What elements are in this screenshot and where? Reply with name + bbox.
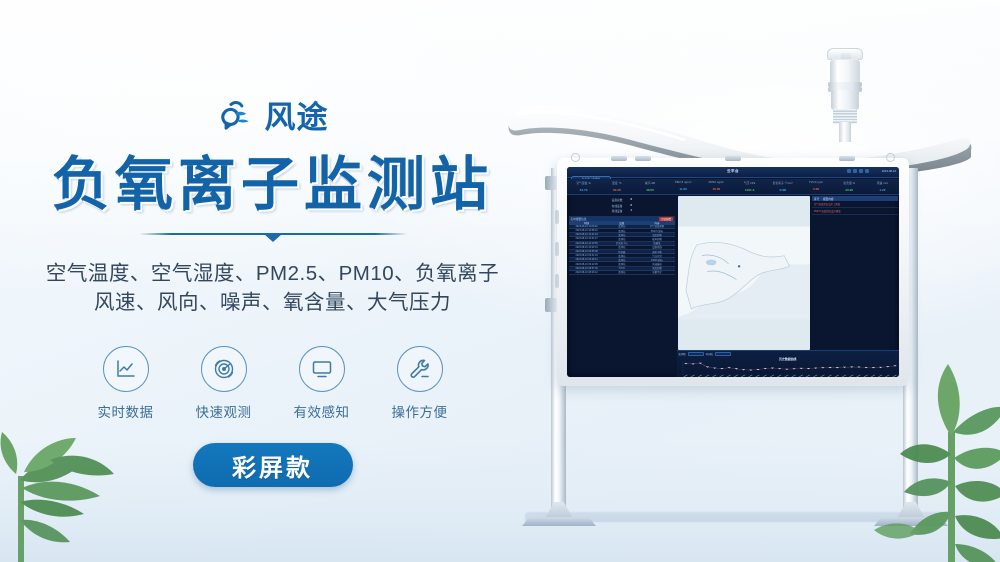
device-stats: 设备总数3在线设备2离线设备1 bbox=[569, 198, 675, 213]
chart-x-tick bbox=[784, 375, 788, 377]
metric-cell: PM10 ug/m³16.00 bbox=[700, 179, 733, 194]
chart-x-tick bbox=[734, 375, 738, 377]
table-cell: 2023-08-16 09:55:08 bbox=[569, 250, 604, 253]
metric-cell: PM2.5 ug/m³11.00 bbox=[667, 179, 700, 194]
chart-time-select[interactable] bbox=[715, 352, 731, 356]
feature-list: 实时数据 快速观测 有效感知 bbox=[95, 346, 451, 421]
chart-x-tick bbox=[806, 375, 810, 377]
toolbar-icon[interactable] bbox=[853, 169, 857, 173]
chart-x-tick bbox=[827, 375, 831, 377]
chart-x-tick bbox=[791, 375, 795, 377]
metric-label: 空气湿度 % bbox=[567, 181, 600, 185]
frame-hook-icon bbox=[886, 153, 895, 162]
metric-value: 0.09 bbox=[799, 187, 832, 191]
dashboard-body: 设备总数3在线设备2离线设备1 实时报警信息 历史报警 时间设备内容 2023-… bbox=[567, 195, 899, 351]
chart-x-tick bbox=[741, 375, 745, 377]
left-panel: 设备总数3在线设备2离线设备1 实时报警信息 历史报警 时间设备内容 2023-… bbox=[567, 195, 677, 351]
divider-triangle-icon bbox=[264, 234, 282, 242]
metric-label: PM2.5 ug/m³ bbox=[667, 181, 700, 184]
marketing-panel: 风途 负氧离子监测站 空气温度、空气湿度、PM2.5、PM10、负氧离子 风速、… bbox=[0, 0, 545, 562]
chart-x-tick bbox=[763, 375, 767, 377]
line-chart-icon bbox=[103, 346, 149, 392]
chart-time-label: 时间段 bbox=[706, 352, 713, 356]
chart-x-tick bbox=[863, 375, 867, 377]
chart-x-tick bbox=[835, 375, 839, 377]
chart-metric-select[interactable] bbox=[688, 352, 704, 356]
stat-value: 3 bbox=[630, 198, 632, 202]
monitoring-station-kiosk: 云平台 负氧离子监测站 2023-08-16 空气湿度 %61.70温度 ℃30… bbox=[505, 40, 975, 530]
chart-x-tick bbox=[719, 375, 723, 377]
mount-bracket bbox=[545, 298, 557, 312]
kiosk-foot-right bbox=[874, 502, 948, 526]
chart-x-tick bbox=[820, 375, 824, 377]
chart-x-tick bbox=[842, 375, 846, 377]
frame-notch bbox=[555, 242, 559, 256]
metric-cell: 负氧离子 个/cm³2185 bbox=[766, 179, 799, 194]
mount-bracket bbox=[545, 176, 557, 190]
device-stat-row: 离线设备1 bbox=[569, 209, 675, 213]
metric-value: 2185 bbox=[766, 188, 799, 192]
foot-plate bbox=[522, 517, 596, 526]
chart-x-tick bbox=[871, 375, 875, 377]
metric-value: 61.70 bbox=[567, 188, 600, 192]
feature-label: 有效感知 bbox=[294, 401, 350, 421]
monitor-screen-icon bbox=[299, 346, 345, 392]
metric-cell: 风速 m/s1.20 bbox=[866, 179, 899, 194]
toolbar-icon[interactable] bbox=[847, 169, 851, 173]
china-map[interactable] bbox=[678, 196, 811, 350]
chart-x-tick bbox=[813, 375, 817, 377]
stat-label: 在线设备 bbox=[612, 204, 623, 208]
subtitle-block: 空气温度、空气湿度、PM2.5、PM10、负氧离子 风速、风向、噪声、氧含量、大… bbox=[46, 259, 499, 318]
metric-label: 气压 hPa bbox=[733, 181, 766, 185]
frame-clip bbox=[725, 156, 741, 161]
history-line-chart bbox=[677, 361, 899, 377]
brand-logo: 风途 bbox=[217, 96, 329, 138]
title-divider bbox=[139, 231, 407, 245]
metric-value: 1.20 bbox=[866, 188, 899, 192]
feature-label: 快速观测 bbox=[196, 401, 252, 421]
feature-item-effective-sensing[interactable]: 有效感知 bbox=[291, 346, 353, 421]
brand-name: 风途 bbox=[265, 102, 329, 133]
table-cell: 2023-08-16 09:41:19 bbox=[569, 254, 604, 257]
metric-value: 16.00 bbox=[700, 187, 733, 191]
metric-label: PM10 ug/m³ bbox=[700, 181, 733, 184]
subtitle-line-1: 空气温度、空气湿度、PM2.5、PM10、负氧离子 bbox=[46, 259, 499, 289]
stat-label: 设备总数 bbox=[612, 198, 623, 202]
chart-x-tick bbox=[892, 375, 896, 377]
device-stat-row: 设备总数3 bbox=[569, 198, 675, 202]
device-stat-row: 在线设备2 bbox=[569, 204, 675, 208]
frame-clip bbox=[839, 156, 855, 161]
table-row[interactable]: 2023-08-16 08:40:12监测站电量不足 bbox=[569, 271, 675, 275]
chart-x-tick bbox=[698, 375, 702, 377]
table-cell: TVOC bbox=[604, 267, 639, 270]
table-cell: 2023-08-16 10:31:47 bbox=[569, 237, 604, 240]
toolbar-icon[interactable] bbox=[859, 169, 863, 173]
feature-item-realtime-data[interactable]: 实时数据 bbox=[95, 346, 157, 421]
metric-label: 氧含量 % bbox=[833, 181, 866, 185]
right-panel-body: 空气湿度超出设定上限值PM2.5 浓度超出设定阈值 bbox=[812, 201, 898, 215]
dashboard: 云平台 负氧离子监测站 2023-08-16 空气湿度 %61.70温度 ℃30… bbox=[567, 167, 899, 377]
table-cell: 2023-08-16 10:42:03 bbox=[569, 233, 604, 236]
table-cell: 监测站 bbox=[604, 262, 639, 266]
frame-clip bbox=[611, 156, 627, 161]
stat-value: 2 bbox=[630, 204, 632, 208]
feature-item-easy-operation[interactable]: 操作方便 bbox=[389, 346, 451, 421]
metric-value: 48.50 bbox=[633, 188, 666, 192]
metric-strip: 空气湿度 %61.70温度 ℃30.08噪声 dB48.50PM2.5 ug/m… bbox=[567, 179, 899, 195]
metric-value: 11.00 bbox=[667, 187, 700, 191]
metric-cell: 噪声 dB48.50 bbox=[633, 179, 666, 194]
chart-x-tick bbox=[799, 375, 803, 377]
chart-x-tick bbox=[690, 375, 694, 377]
chart-x-tick bbox=[755, 375, 759, 377]
g-cloud-leaf-logo-icon bbox=[217, 99, 257, 135]
display-frame: 云平台 负氧离子监测站 2023-08-16 空气湿度 %61.70温度 ℃30… bbox=[557, 158, 909, 386]
frame-clip bbox=[635, 156, 651, 161]
table-cell: 电量不足 bbox=[639, 270, 674, 274]
chart-x-tick bbox=[705, 375, 709, 377]
display-screen[interactable]: 云平台 负氧离子监测站 2023-08-16 空气湿度 %61.70温度 ℃30… bbox=[567, 167, 899, 377]
metric-value: 20.90 bbox=[833, 188, 866, 192]
stat-label: 离线设备 bbox=[612, 209, 623, 213]
alarm-table-body: 2023-08-16 11:05:22监测站空气湿度超限2023-08-16 1… bbox=[569, 225, 675, 275]
chart-x-tick bbox=[856, 375, 860, 377]
frame-notch bbox=[555, 210, 559, 224]
wrench-icon bbox=[397, 346, 443, 392]
dashboard-toolbar[interactable] bbox=[847, 169, 869, 173]
chart-x-tick bbox=[777, 375, 781, 377]
chart-x-tick bbox=[712, 375, 716, 377]
metric-label: 负氧离子 个/cm³ bbox=[766, 181, 799, 185]
metric-label: 温度 ℃ bbox=[600, 181, 633, 185]
metric-label: TVOC ppm bbox=[799, 181, 832, 184]
chart-x-tick bbox=[726, 375, 730, 377]
metric-cell: TVOC ppm0.09 bbox=[799, 179, 832, 194]
metric-label: 噪声 dB bbox=[633, 181, 666, 185]
toolbar-icon[interactable] bbox=[865, 169, 869, 173]
table-cell: 2023-08-16 09:28:44 bbox=[569, 258, 604, 261]
feature-label: 操作方便 bbox=[392, 401, 448, 421]
kiosk-foot-left bbox=[522, 502, 596, 526]
alarm-item: 空气湿度超出设定上限值 bbox=[812, 201, 898, 208]
chart-x-tick bbox=[748, 375, 752, 377]
metric-value: 30.08 bbox=[600, 188, 633, 192]
product-variant-button[interactable]: 彩屏款 bbox=[193, 443, 353, 487]
table-cell: 监测站 bbox=[604, 270, 639, 274]
dashboard-header: 云平台 负氧离子监测站 2023-08-16 bbox=[567, 167, 899, 178]
table-cell: 2023-08-16 08:57:36 bbox=[569, 267, 604, 270]
feature-label: 实时数据 bbox=[98, 401, 154, 421]
frame-hook-icon bbox=[571, 153, 580, 162]
foot-plate bbox=[874, 517, 948, 526]
chart-metric-label: 监测项 bbox=[679, 352, 686, 356]
chart-series-line bbox=[685, 363, 894, 370]
metric-cell: 温度 ℃30.08 bbox=[600, 179, 633, 194]
table-cell: 2023-08-16 10:19:55 bbox=[569, 242, 604, 245]
metric-cell: 氧含量 %20.90 bbox=[833, 179, 866, 194]
right-column-header: 报警内容 bbox=[823, 197, 833, 201]
metric-value: 1001.3 bbox=[733, 188, 766, 192]
metric-cell: 空气湿度 %61.70 bbox=[567, 179, 600, 194]
map-svg bbox=[678, 196, 811, 350]
chart-x-tick bbox=[885, 375, 889, 377]
stat-value: 1 bbox=[630, 209, 632, 213]
chart-x-tick bbox=[878, 375, 882, 377]
right-column-header: 序号 bbox=[814, 197, 819, 201]
table-cell: 2023-08-16 09:12:05 bbox=[569, 263, 604, 266]
feature-item-fast-observation[interactable]: 快速观测 bbox=[193, 346, 255, 421]
subtitle-line-2: 风速、风向、噪声、氧含量、大气压力 bbox=[46, 288, 499, 318]
dashboard-title: 云平台 bbox=[727, 169, 739, 174]
frame-notch bbox=[555, 274, 559, 288]
page-title: 负氧离子监测站 bbox=[52, 154, 493, 217]
history-chart-panel: 监测项 时间段 历史数据曲线 bbox=[677, 350, 899, 377]
right-panel: 序号报警内容 空气湿度超出设定上限值PM2.5 浓度超出设定阈值 bbox=[811, 195, 899, 351]
alarm-item: PM2.5 浓度超出设定阈值 bbox=[812, 208, 898, 215]
metric-cell: 气压 hPa1001.3 bbox=[733, 179, 766, 194]
metric-label: 风速 m/s bbox=[866, 181, 899, 185]
chart-x-tick bbox=[770, 375, 774, 377]
table-cell: 2023-08-16 10:02:31 bbox=[569, 246, 604, 249]
table-cell: 2023-08-16 10:58:10 bbox=[569, 229, 604, 232]
radar-scan-icon bbox=[201, 346, 247, 392]
table-cell: 2023-08-16 08:40:12 bbox=[569, 271, 604, 274]
chart-x-tick bbox=[849, 375, 853, 377]
dashboard-clock: 2023-08-16 bbox=[882, 169, 896, 173]
table-cell: 2023-08-16 11:05:22 bbox=[569, 225, 604, 228]
chart-x-tick bbox=[683, 375, 687, 377]
